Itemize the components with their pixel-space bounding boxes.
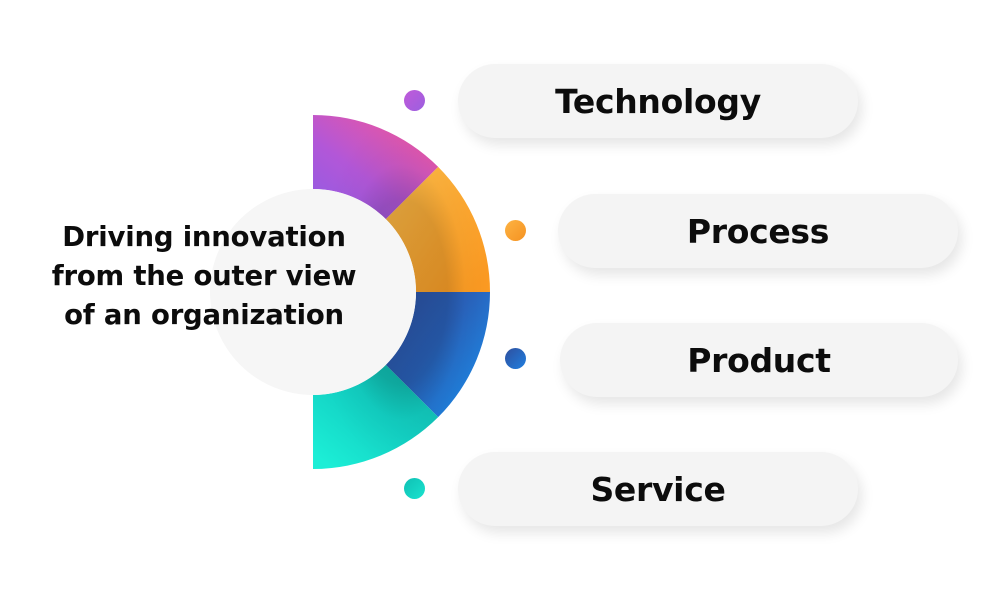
legend-pill-product[interactable]: Product [560,323,958,397]
legend-label-service: Service [590,473,725,506]
legend-dot-technology[interactable] [404,90,425,111]
legend-pill-service[interactable]: Service [458,452,858,526]
legend-pill-process[interactable]: Process [558,194,958,268]
legend-label-technology: Technology [555,85,761,118]
legend-pill-technology[interactable]: Technology [458,64,858,138]
legend-label-process: Process [687,215,829,248]
legend-label-product: Product [687,344,830,377]
infographic-canvas: Driving innovation from the outer view o… [0,0,992,594]
legend-dot-service[interactable] [404,478,425,499]
legend-dot-product[interactable] [505,348,526,369]
center-caption: Driving innovation from the outer view o… [18,218,390,335]
legend-dot-process[interactable] [505,220,526,241]
